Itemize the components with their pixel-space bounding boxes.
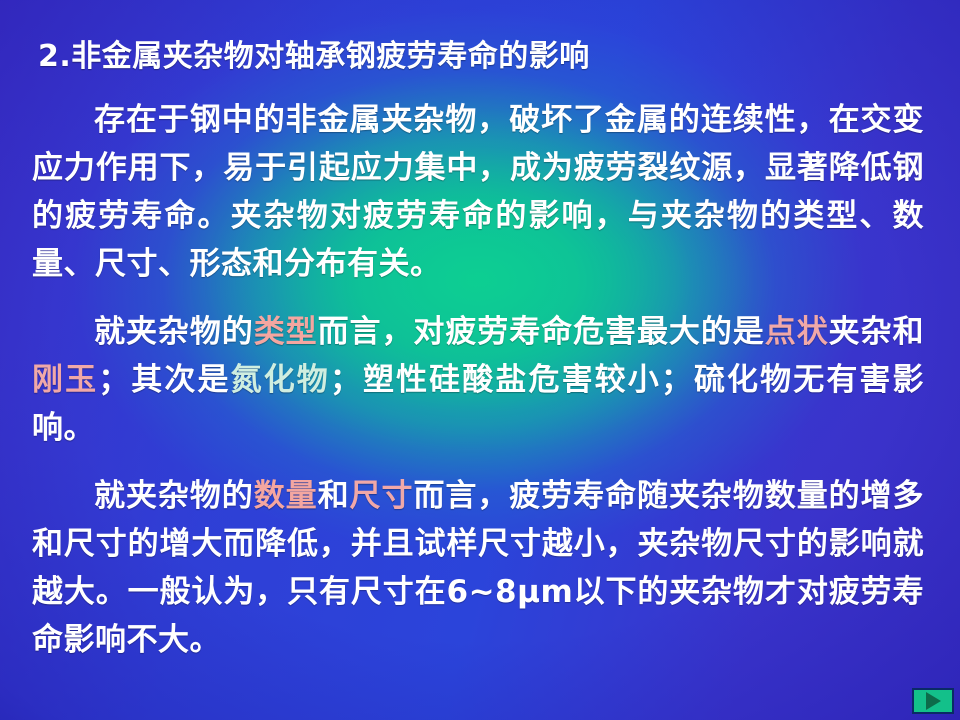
highlighted-term: 点状 bbox=[765, 314, 829, 350]
paragraph-text: 就夹杂物的 bbox=[94, 478, 254, 514]
paragraph-text: 和 bbox=[318, 478, 350, 514]
play-triangle-icon bbox=[926, 692, 941, 710]
highlighted-term: 刚玉 bbox=[32, 362, 98, 398]
paragraph-text: 就夹杂物的 bbox=[94, 314, 254, 350]
slide-canvas: 2.非金属夹杂物对轴承钢疲劳寿命的影响 存在于钢中的非金属夹杂物，破坏了金属的连… bbox=[0, 0, 960, 720]
paragraph-2: 就夹杂物的类型而言，对疲劳寿命危害最大的是点状夹杂和刚玉；其次是氮化物；塑性硅酸… bbox=[32, 308, 924, 452]
paragraph-text: 而言，对疲劳寿命危害最大的是 bbox=[318, 314, 765, 350]
highlighted-term: 类型 bbox=[254, 314, 318, 350]
next-slide-button[interactable] bbox=[912, 688, 954, 714]
paragraph-text: 存在于钢中的非金属夹杂物，破坏了金属的连续性，在交变应力作用下，易于引起应力集中… bbox=[32, 102, 924, 282]
paragraph-3: 就夹杂物的数量和尺寸而言，疲劳寿命随夹杂物数量的增多和尺寸的增大而降低，并且试样… bbox=[32, 472, 924, 664]
slide-title: 2.非金属夹杂物对轴承钢疲劳寿命的影响 bbox=[38, 36, 590, 78]
paragraph-text: 夹杂和 bbox=[829, 314, 924, 350]
paragraph-text: ；其次是 bbox=[98, 362, 230, 398]
highlighted-term: 尺寸 bbox=[350, 478, 414, 514]
slide-body: 存在于钢中的非金属夹杂物，破坏了金属的连续性，在交变应力作用下，易于引起应力集中… bbox=[32, 96, 924, 664]
highlighted-term: 数量 bbox=[254, 478, 318, 514]
highlighted-term: 氮化物 bbox=[231, 362, 330, 398]
paragraph-1: 存在于钢中的非金属夹杂物，破坏了金属的连续性，在交变应力作用下，易于引起应力集中… bbox=[32, 96, 924, 288]
slide-content: 2.非金属夹杂物对轴承钢疲劳寿命的影响 存在于钢中的非金属夹杂物，破坏了金属的连… bbox=[0, 0, 960, 720]
